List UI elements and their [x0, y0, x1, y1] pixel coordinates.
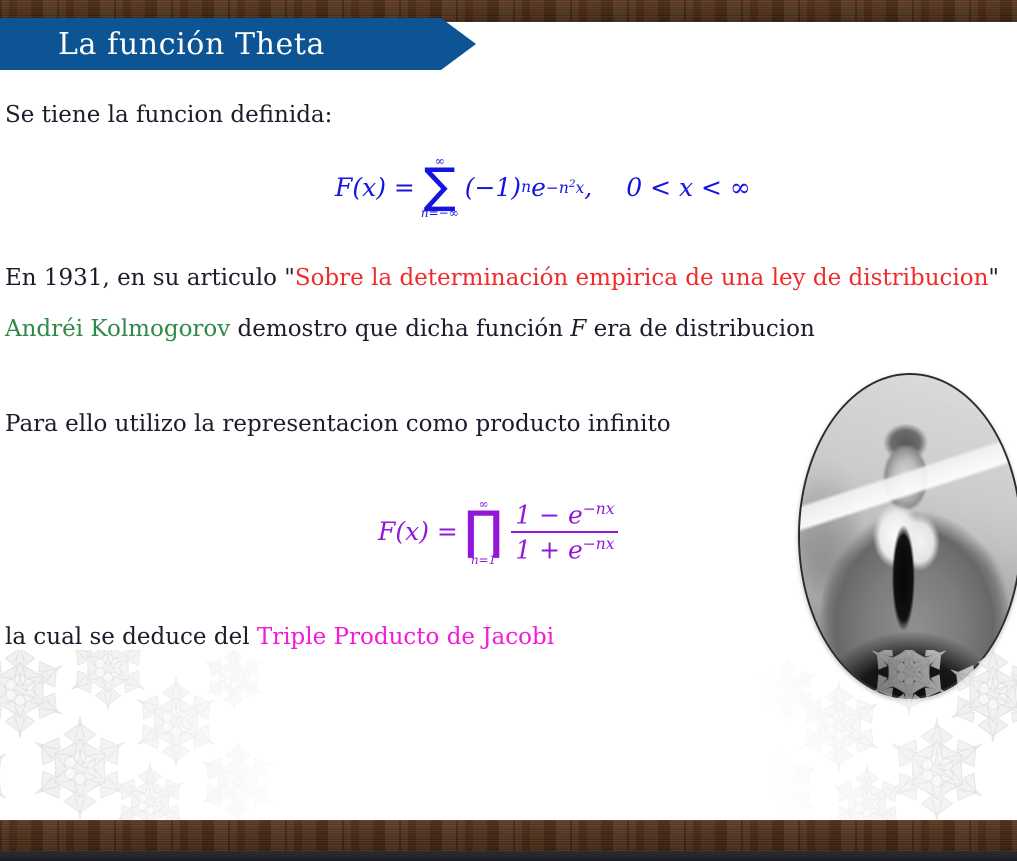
text-jacobi-link: Triple Producto de Jacobi	[257, 624, 554, 650]
bottom-dark-strip	[0, 851, 1017, 861]
formula-theta-series: F(x) = ∞ ∑ n=−∞ (−1)ne−n2x, 0 < x < ∞	[335, 155, 751, 219]
formula1-exponent-n: n	[521, 178, 531, 196]
text-kolmogorov-name: Andréi Kolmogorov	[5, 316, 230, 342]
formula1-lhs: F(x) =	[335, 173, 415, 202]
formula2-numerator: 1 − e−nx	[511, 500, 618, 531]
text-variable-f: F	[570, 316, 586, 342]
wood-border-bottom	[0, 820, 1017, 851]
formula1-e-exp-x: x	[576, 179, 585, 197]
text-jacobi-prefix: la cual se deduce del	[5, 624, 257, 650]
text-line-article: En 1931, en su articulo "Sobre la determ…	[5, 266, 999, 291]
formula1-range: 0 < x < ∞	[626, 173, 751, 202]
text-line-kolmogorov: Andréi Kolmogorov demostro que dicha fun…	[5, 317, 815, 342]
slide-canvas: La función Theta Se tiene la funcion def…	[0, 0, 1017, 861]
text-line-intro: Se tiene la funcion definida:	[5, 103, 332, 128]
pi-product-glyph: ∏	[464, 509, 503, 554]
page-title: La función Theta	[58, 27, 325, 62]
text-product-intro: Para ello utilizo la representacion como…	[5, 411, 671, 437]
product-icon: ∞ ∏ n=1	[464, 498, 503, 566]
text-kolmogorov-end: era de distribucion	[586, 316, 815, 342]
formula1-e-exp-square: 2	[569, 178, 576, 190]
kolmogorov-portrait	[798, 373, 1017, 699]
formula2-fraction: 1 − e−nx 1 + e−nx	[511, 500, 618, 564]
slide-title-banner: La función Theta	[0, 18, 476, 70]
text-kolmogorov-mid: demostro que dicha función	[230, 316, 570, 342]
text-line-jacobi: la cual se deduce del Triple Producto de…	[5, 625, 554, 650]
formula1-base: (−1)	[465, 173, 521, 202]
formula2-lhs: F(x) =	[378, 517, 458, 546]
formula2-denominator: 1 + e−nx	[511, 533, 618, 564]
formula2-numerator-exponent: −nx	[583, 500, 615, 518]
snowflake-decoration-left	[0, 650, 350, 820]
portrait-image	[800, 375, 1017, 697]
text-article-prefix: En 1931, en su articulo "	[5, 265, 295, 291]
text-article-title: Sobre la determinación empirica de una l…	[295, 265, 989, 291]
text-line-product: Para ello utilizo la representacion como…	[5, 412, 671, 437]
text-intro: Se tiene la funcion definida:	[5, 102, 332, 128]
formula2-numerator-base: 1 − e	[515, 500, 583, 529]
formula1-limit-bottom: n=−∞	[421, 207, 459, 219]
formula1-comma: ,	[584, 173, 592, 202]
formula1-e: e	[531, 173, 546, 202]
formula-infinite-product: F(x) = ∞ ∏ n=1 1 − e−nx 1 + e−nx	[378, 498, 618, 566]
formula2-denominator-exponent: −nx	[583, 535, 615, 553]
formula1-e-exponent: −n2x	[546, 178, 584, 197]
sigma-glyph: ∑	[424, 166, 456, 207]
text-article-suffix: "	[988, 265, 999, 291]
summation-icon: ∞ ∑ n=−∞	[421, 155, 459, 219]
formula1-e-exp-base: −n	[546, 179, 569, 197]
formula2-limit-bottom: n=1	[471, 554, 496, 566]
formula2-denominator-base: 1 + e	[515, 535, 583, 564]
